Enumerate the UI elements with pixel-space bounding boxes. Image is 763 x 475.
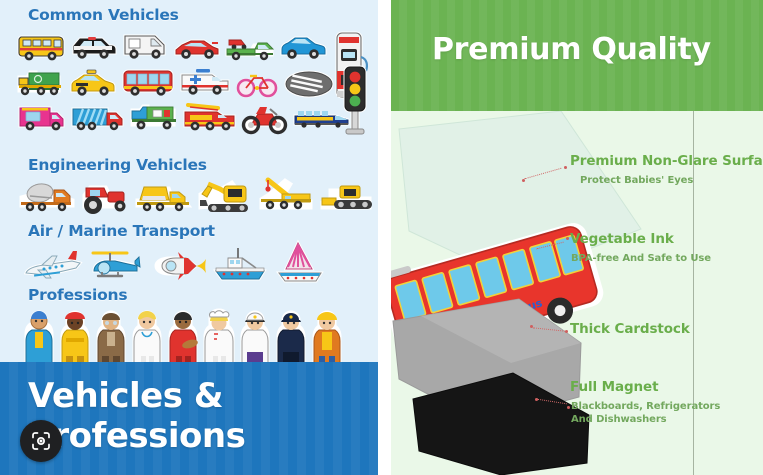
sticker-chef[interactable] xyxy=(202,308,236,368)
sticker-pilot[interactable] xyxy=(94,308,128,368)
banner-title-line2: Professions xyxy=(28,416,358,456)
leader-dot xyxy=(522,179,525,182)
sticker-rocket[interactable] xyxy=(150,245,208,287)
sticker-helicopter[interactable] xyxy=(88,245,146,287)
leader-dot xyxy=(566,237,569,240)
feature-vegetable-ink: Vegetable Ink BPA-free And Safe to Use xyxy=(391,231,763,265)
sticker-ice-cream-truck[interactable] xyxy=(16,97,68,137)
google-lens-button[interactable] xyxy=(20,420,62,462)
sticker-container-truck[interactable] xyxy=(70,97,126,137)
sticker-tow-truck[interactable] xyxy=(224,27,276,65)
category-heading: Engineering Vehicles xyxy=(28,156,378,174)
sticker-white-van[interactable] xyxy=(120,27,170,65)
sticker-train[interactable] xyxy=(292,97,352,137)
sticker-police-officer[interactable] xyxy=(274,308,308,368)
sticker-airplane[interactable] xyxy=(22,245,84,287)
sticker-fishing-boat[interactable] xyxy=(212,243,270,287)
premium-quality-header: Premium Quality xyxy=(391,0,763,111)
feature-premium-non-glare-surface: Premium Non-Glare Surface Protect Babies… xyxy=(391,153,763,187)
sticker-row xyxy=(22,306,378,368)
category-engineering-vehicles: Engineering Vehicles xyxy=(0,156,378,218)
sticker-blue-car[interactable] xyxy=(278,27,328,65)
leader-dot xyxy=(565,330,568,333)
sticker-fire-truck[interactable] xyxy=(182,97,238,137)
sticker-row xyxy=(18,176,378,218)
banner-title: Vehicles & Professions xyxy=(28,376,358,456)
sticker-bulldozer[interactable] xyxy=(318,176,376,218)
sticker-garbage-truck[interactable] xyxy=(16,63,66,101)
sticker-construction-worker[interactable] xyxy=(310,308,344,368)
left-product-image[interactable]: Common Vehicles xyxy=(0,0,378,475)
sticker-row xyxy=(22,241,378,287)
category-heading: Professions xyxy=(28,286,378,304)
sticker-doctor[interactable] xyxy=(130,308,164,368)
feature-title: Vegetable Ink xyxy=(570,231,763,247)
sticker-motorcycle[interactable] xyxy=(240,97,290,137)
sticker-red-bus[interactable] xyxy=(120,63,176,101)
category-professions: Professions xyxy=(0,286,378,368)
google-lens-icon xyxy=(29,429,53,453)
feature-full-magnet: Full Magnet Blackboards, Refrigerators A… xyxy=(391,379,763,426)
sticker-mechanic[interactable] xyxy=(22,308,56,368)
feature-thick-cardstock: Thick Cardstock xyxy=(391,321,763,337)
sticker-excavator[interactable] xyxy=(194,174,254,218)
leader-line xyxy=(525,168,562,179)
layer-diagram: Bus Premium Non-Glare Surface xyxy=(391,111,763,475)
sticker-crosswalk[interactable] xyxy=(282,63,336,101)
feature-title: Full Magnet xyxy=(570,379,763,395)
sticker-tractor[interactable] xyxy=(78,176,132,218)
leader-line xyxy=(537,399,567,405)
sticker-firefighter[interactable] xyxy=(58,308,92,368)
banner-title-line1: Vehicles & xyxy=(28,376,358,416)
category-heading: Air / Marine Transport xyxy=(28,222,378,240)
leader-dot xyxy=(535,398,538,401)
leader-dot xyxy=(564,166,567,169)
feature-title: Thick Cardstock xyxy=(570,321,763,337)
sticker-race-driver[interactable] xyxy=(166,308,200,368)
feature-subtitle: BPA-free And Safe to Use xyxy=(571,252,763,265)
category-air-marine-transport: Air / Marine Transport xyxy=(0,222,378,287)
sticker-red-sports-car[interactable] xyxy=(172,27,222,65)
feature-title: Premium Non-Glare Surface xyxy=(570,153,763,169)
sticker-mobile-crane[interactable] xyxy=(256,174,316,218)
screenshot-root: Common Vehicles xyxy=(0,0,763,475)
leader-dot xyxy=(530,325,533,328)
feature-subtitle: Protect Babies' Eyes xyxy=(580,174,763,187)
sticker-school-bus[interactable] xyxy=(16,27,66,65)
sticker-taxi-cab[interactable] xyxy=(68,63,118,101)
sticker-row xyxy=(16,63,378,101)
category-common-vehicles: Common Vehicles xyxy=(0,6,378,137)
sticker-row xyxy=(16,27,378,65)
leader-dot xyxy=(567,406,570,409)
category-heading: Common Vehicles xyxy=(28,6,378,24)
leader-line xyxy=(533,327,565,331)
sticker-sailboat[interactable] xyxy=(274,239,326,287)
sticker-bicycle[interactable] xyxy=(234,63,280,101)
sticker-ship-captain[interactable] xyxy=(238,308,272,368)
premium-quality-title: Premium Quality xyxy=(432,32,711,67)
sticker-police-car[interactable] xyxy=(68,27,118,65)
sticker-cement-mixer[interactable] xyxy=(18,176,76,218)
leader-line xyxy=(536,242,563,250)
right-product-image[interactable]: Premium Quality xyxy=(391,0,763,475)
left-sticker-board: Common Vehicles xyxy=(0,0,378,362)
feature-subtitle: Blackboards, Refrigerators And Dishwashe… xyxy=(571,400,763,426)
sticker-delivery-van[interactable] xyxy=(128,97,180,137)
sticker-ambulance[interactable] xyxy=(178,63,232,101)
sticker-dump-truck[interactable] xyxy=(134,176,192,218)
sticker-row xyxy=(16,97,378,137)
left-bottom-banner: Vehicles & Professions xyxy=(0,362,378,475)
